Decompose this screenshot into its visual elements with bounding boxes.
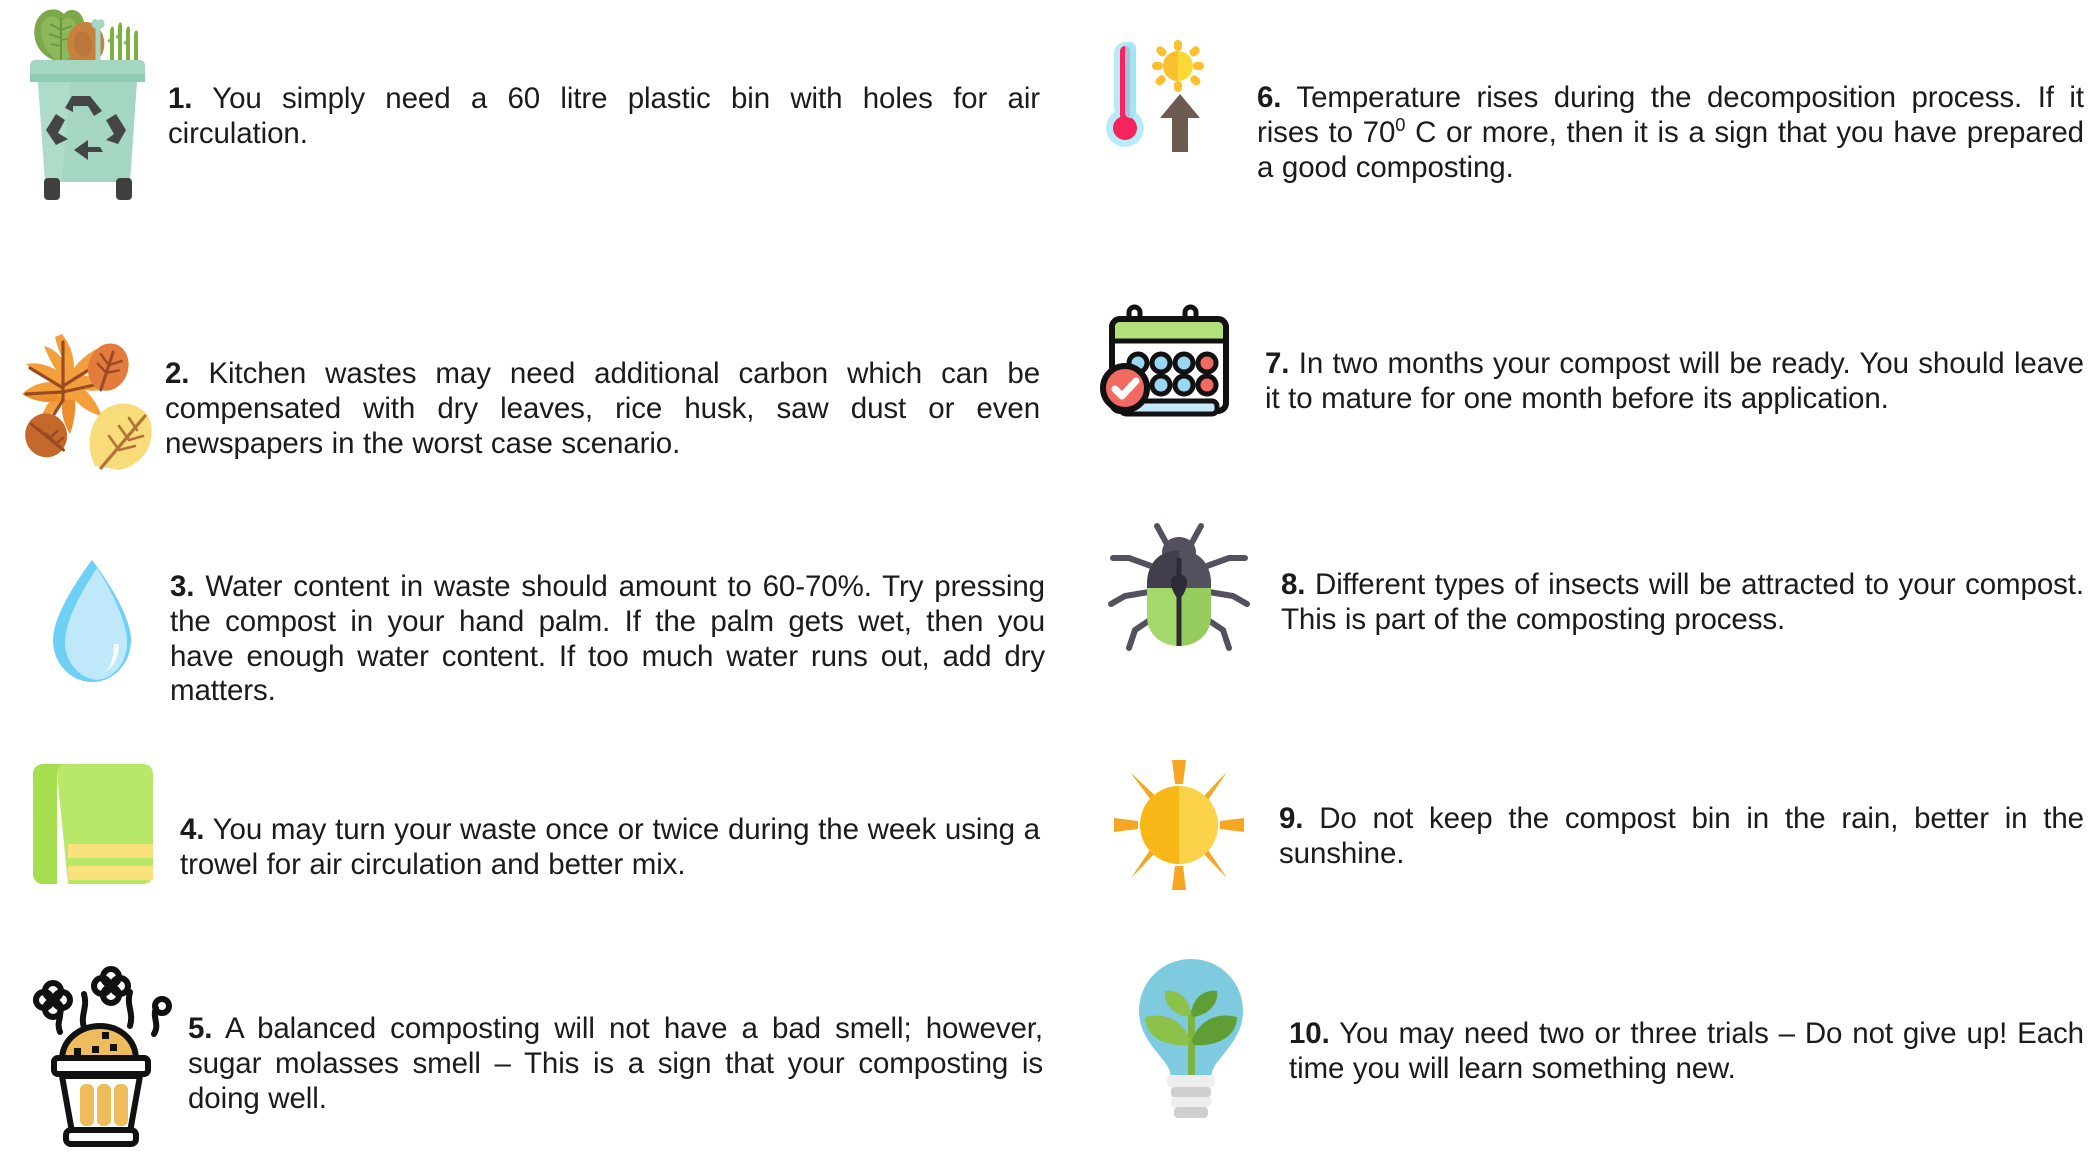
sun-glyph xyxy=(1152,40,1204,92)
tip-item-4: 4. You may turn your waste once or twice… xyxy=(25,758,1040,893)
tip-number-9: 9. xyxy=(1279,802,1303,835)
tip-number-10: 10. xyxy=(1289,1017,1330,1050)
tip-number-2: 2. xyxy=(165,357,189,390)
tip-text-3: 3. Water content in waste should amount … xyxy=(170,570,1045,709)
tip-item-2: 2. Kitchen wastes may need additional ca… xyxy=(0,322,1040,472)
right-column: 6. Temperature rises during the decompos… xyxy=(1044,0,2088,1164)
tip-body-3: Water content in waste should amount to … xyxy=(170,570,1045,707)
tip-body-4: You may turn your waste once or twice du… xyxy=(180,813,1040,881)
tip-text-5: 5. A balanced composting will not have a… xyxy=(188,1012,1043,1116)
tip-number-6: 6. xyxy=(1257,81,1281,114)
tip-text-6: 6. Temperature rises during the decompos… xyxy=(1257,81,2084,185)
tip-text-7: 7. In two months your compost will be re… xyxy=(1265,347,2084,417)
sun-icon xyxy=(1114,760,1244,890)
tip-item-7: 7. In two months your compost will be re… xyxy=(1099,305,2084,425)
tip-item-10: 10. You may need two or three trials – D… xyxy=(1129,955,2084,1120)
tip-item-5: 5. A balanced composting will not have a… xyxy=(18,960,1043,1150)
infographic-sheet: 1. You simply need a 60 litre plastic bi… xyxy=(0,0,2088,1164)
thermometer-glyph xyxy=(1106,42,1144,147)
tip-item-9: 9. Do not keep the compost bin in the ra… xyxy=(1114,760,2084,890)
tip-body-2: Kitchen wastes may need additional carbo… xyxy=(165,357,1040,460)
tip-number-3: 3. xyxy=(170,570,194,603)
tip-body-5: A balanced composting will not have a ba… xyxy=(188,1012,1043,1115)
tip-body-10: You may need two or three trials – Do no… xyxy=(1289,1017,2084,1085)
lightbulb-plant-icon xyxy=(1129,955,1254,1120)
tip-item-1: 1. You simply need a 60 litre plastic bi… xyxy=(10,0,1040,200)
tip-body-7: In two months your compost will be ready… xyxy=(1265,347,2084,415)
tip-number-4: 4. xyxy=(180,813,204,846)
left-column: 1. You simply need a 60 litre plastic bi… xyxy=(0,0,1044,1164)
tip-number-1: 1. xyxy=(168,82,192,115)
folded-towel-icon xyxy=(25,758,155,893)
recycle-bin-icon xyxy=(10,0,160,200)
tip-text-10: 10. You may need two or three trials – D… xyxy=(1289,1017,2084,1087)
tip-body-9: Do not keep the compost bin in the rain,… xyxy=(1279,802,2084,870)
tip-text-1: 1. You simply need a 60 litre plastic bi… xyxy=(168,82,1040,152)
calendar-check-icon xyxy=(1099,305,1239,425)
tip-text-8: 8. Different types of insects will be at… xyxy=(1281,568,2084,638)
tip-text-2: 2. Kitchen wastes may need additional ca… xyxy=(165,357,1040,461)
tip-text-4: 4. You may turn your waste once or twice… xyxy=(180,813,1040,883)
beetle-insect-icon xyxy=(1109,518,1249,653)
water-droplet-icon xyxy=(35,548,150,708)
tip-item-8: 8. Different types of insects will be at… xyxy=(1109,518,2084,653)
tip-item-3: 3. Water content in waste should amount … xyxy=(35,548,1045,709)
tip-body-8: Different types of insects will be attra… xyxy=(1281,568,2084,636)
tip-body-1: You simply need a 60 litre plastic bin w… xyxy=(168,82,1040,150)
compost-bucket-smell-icon xyxy=(18,960,173,1150)
up-arrow-glyph xyxy=(1160,94,1200,152)
tip-number-8: 8. xyxy=(1281,568,1305,601)
degree-superscript: 0 xyxy=(1395,114,1405,135)
thermometer-sun-icon xyxy=(1104,36,1229,156)
tip-number-7: 7. xyxy=(1265,347,1289,380)
autumn-leaves-icon xyxy=(0,322,155,472)
tip-number-5: 5. xyxy=(188,1012,212,1045)
tip-item-6: 6. Temperature rises during the decompos… xyxy=(1104,36,2084,185)
tip-text-9: 9. Do not keep the compost bin in the ra… xyxy=(1279,802,2084,872)
